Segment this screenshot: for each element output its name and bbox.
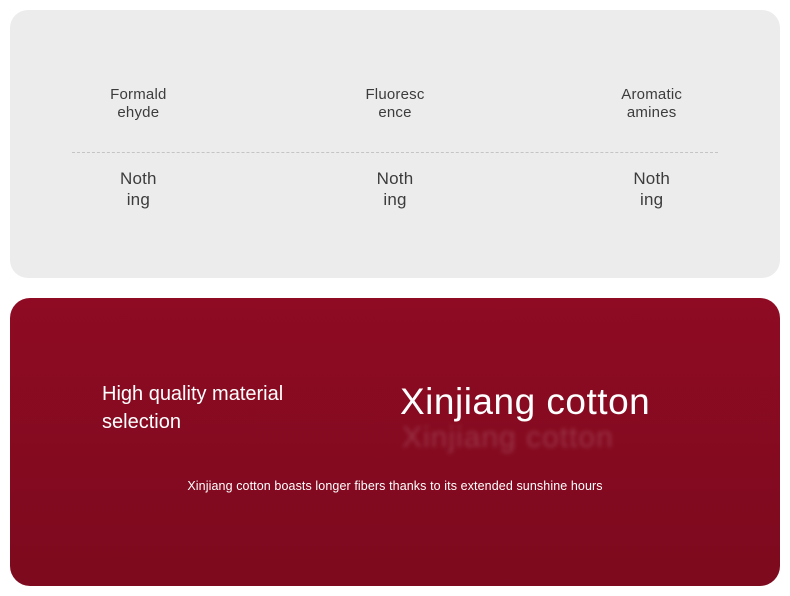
specification-card: Formald ehyde Fluoresc ence Aromatic ami…: [10, 10, 780, 278]
spec-value-fluorescence: Noth ing: [267, 168, 524, 210]
spec-header-line-2: amines: [523, 104, 780, 122]
spec-value-line-2: ing: [523, 189, 780, 210]
spec-value-aromatic-amines: Noth ing: [523, 168, 780, 210]
spec-header-row: Formald ehyde Fluoresc ence Aromatic ami…: [10, 86, 780, 122]
spec-header-line-1: Aromatic: [523, 86, 780, 104]
spec-header-line-2: ence: [267, 104, 524, 122]
spec-value-formaldehyde: Noth ing: [10, 168, 267, 210]
spec-column-header-fluorescence: Fluoresc ence: [267, 86, 524, 122]
spec-value-line-1: Noth: [10, 168, 267, 189]
spec-divider: [72, 152, 718, 153]
hero-ghost-title: Xinjiang cotton: [402, 420, 614, 456]
spec-value-line-2: ing: [10, 189, 267, 210]
spec-value-row: Noth ing Noth ing Noth ing: [10, 168, 780, 210]
spec-value-line-2: ing: [267, 189, 524, 210]
spec-header-line-1: Fluoresc: [267, 86, 524, 104]
hero-banner: High quality material selection Xinjiang…: [10, 298, 780, 586]
spec-header-line-1: Formald: [10, 86, 267, 104]
hero-main-title: Xinjiang cotton: [400, 378, 650, 426]
spec-column-header-formaldehyde: Formald ehyde: [10, 86, 267, 122]
hero-subtitle: Xinjiang cotton boasts longer fibers tha…: [10, 478, 780, 494]
spec-header-line-2: ehyde: [10, 104, 267, 122]
spec-value-line-1: Noth: [523, 168, 780, 189]
spec-value-line-1: Noth: [267, 168, 524, 189]
hero-left-title: High quality material selection: [102, 380, 362, 436]
spec-column-header-aromatic-amines: Aromatic amines: [523, 86, 780, 122]
